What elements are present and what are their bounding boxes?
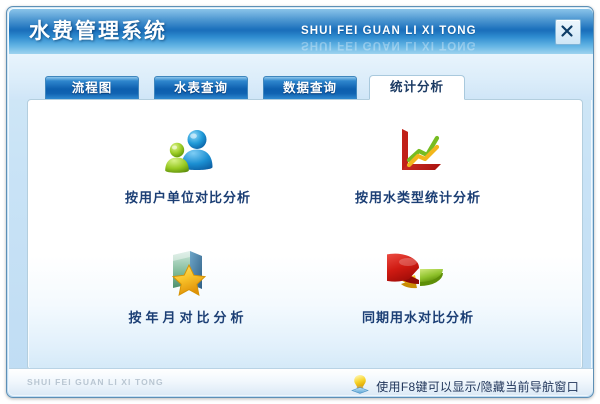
shortcut-water-type-statistics[interactable]: 按用水类型统计分析 bbox=[298, 120, 538, 232]
lightbulb-icon bbox=[349, 374, 371, 398]
app-title-pinyin-reflection: SHUI FEI GUAN LI XI TONG bbox=[301, 39, 477, 51]
title-bar: 水费管理系统 SHUI FEI GUAN LI XI TONG SHUI FEI… bbox=[9, 9, 593, 54]
main-window: 水费管理系统 SHUI FEI GUAN LI XI TONG SHUI FEI… bbox=[6, 6, 594, 398]
tab-liuchengtu[interactable]: 流程图 bbox=[45, 76, 139, 100]
shortcut-user-unit-comparison[interactable]: 按用户单位对比分析 bbox=[68, 120, 308, 232]
status-bar: SHUI FEI GUAN LI XI TONG bbox=[9, 368, 593, 395]
shortcut-year-month-comparison[interactable]: 按年月对比分析 bbox=[68, 240, 308, 352]
book-star-icon bbox=[68, 240, 308, 298]
status-hint-text: 使用F8键可以显示/隐藏当前导航窗口 bbox=[376, 378, 579, 395]
app-title-pinyin: SHUI FEI GUAN LI XI TONG bbox=[301, 25, 477, 37]
close-button[interactable] bbox=[555, 19, 581, 45]
pie-chart-icon bbox=[298, 240, 538, 298]
status-brand: SHUI FEI GUAN LI XI TONG bbox=[27, 377, 164, 387]
shortcut-label: 按用户单位对比分析 bbox=[68, 187, 308, 206]
analysis-shortcut-grid: 按用户单位对比分析 bbox=[28, 100, 582, 369]
tab-shujuchaxun[interactable]: 数据查询 bbox=[263, 76, 357, 100]
tab-shuibiaochaxun[interactable]: 水表查询 bbox=[154, 76, 248, 100]
application-window: 水费管理系统 SHUI FEI GUAN LI XI TONG SHUI FEI… bbox=[0, 0, 600, 404]
shortcut-label: 同期用水对比分析 bbox=[298, 307, 538, 326]
two-users-icon bbox=[68, 120, 308, 178]
shortcut-label: 按用水类型统计分析 bbox=[298, 187, 538, 206]
shortcut-same-period-comparison[interactable]: 同期用水对比分析 bbox=[298, 240, 538, 352]
status-hint: 使用F8键可以显示/隐藏当前导航窗口 bbox=[349, 374, 579, 398]
app-title: 水费管理系统 bbox=[29, 15, 167, 45]
shortcut-label: 按年月对比分析 bbox=[68, 307, 308, 326]
tab-tongjifenxi[interactable]: 统计分析 bbox=[369, 75, 465, 100]
content-panel: 按用户单位对比分析 bbox=[27, 99, 583, 370]
tab-bar: 流程图 水表查询 数据查询 统计分析 bbox=[9, 54, 593, 100]
line-chart-icon bbox=[298, 120, 538, 178]
